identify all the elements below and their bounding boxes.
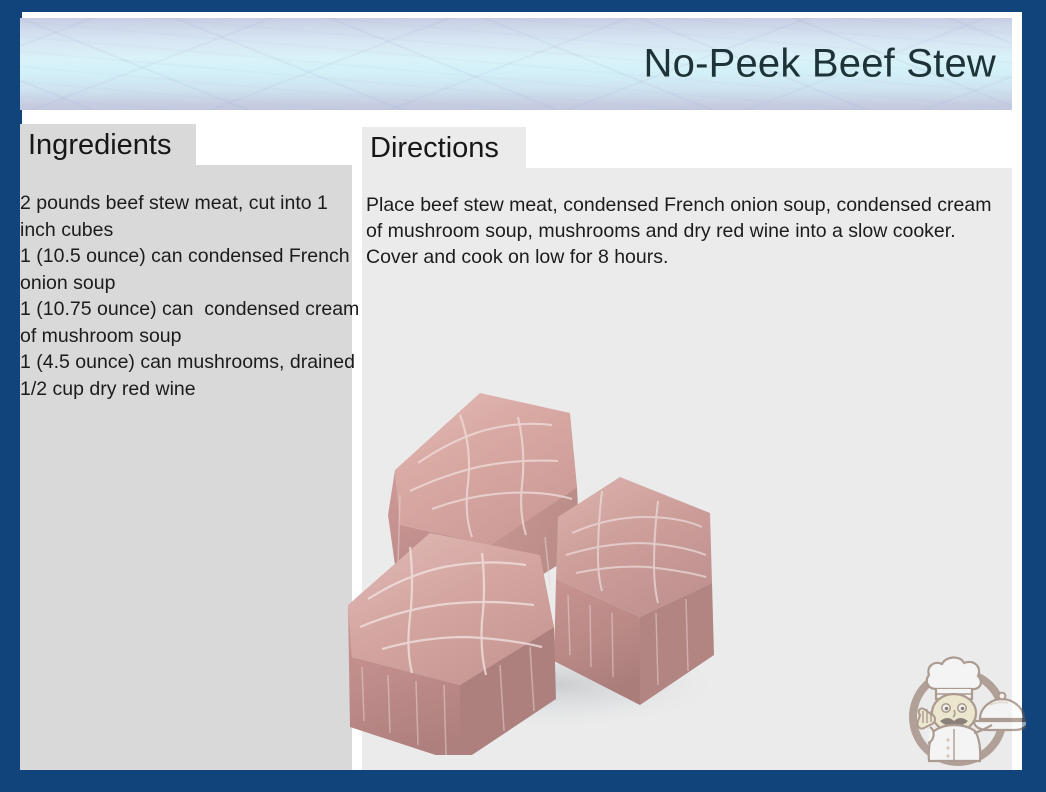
recipe-card-slide: No-Peek Beef Stew Ingredients 2 pounds b… [0, 0, 1046, 792]
directions-heading: Directions [370, 134, 499, 163]
ingredients-list: 2 pounds beef stew meat, cut into 1 inch… [20, 190, 360, 402]
border-left [0, 0, 22, 792]
ingredients-heading-tab: Ingredients [20, 124, 196, 166]
border-bottom [0, 770, 1046, 792]
ingredients-heading: Ingredients [28, 131, 172, 160]
page-title: No-Peek Beef Stew [644, 42, 996, 87]
directions-heading-tab: Directions [362, 127, 526, 169]
directions-text: Place beef stew meat, condensed French o… [366, 192, 1012, 270]
border-top [0, 0, 1046, 12]
border-right [1022, 0, 1046, 792]
header-banner: No-Peek Beef Stew [20, 18, 1012, 110]
